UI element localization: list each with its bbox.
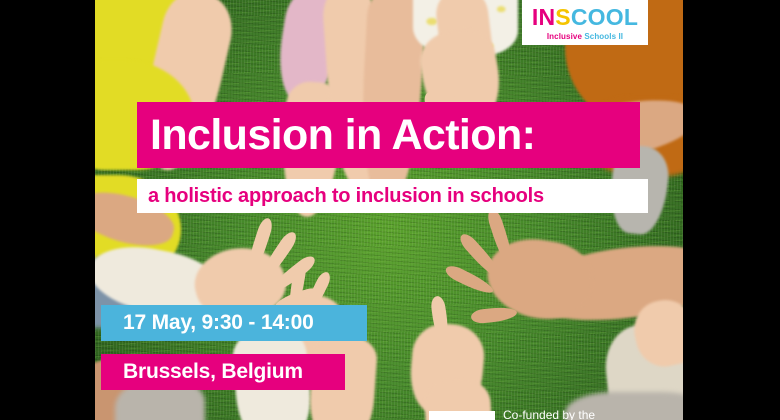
event-location: Brussels, Belgium — [123, 360, 303, 384]
logo-text-s: S — [555, 4, 571, 30]
event-date: 17 May, 9:30 - 14:00 — [123, 311, 314, 335]
event-location-banner: Brussels, Belgium — [101, 354, 345, 390]
logo-text-cool: COOL — [571, 4, 638, 30]
event-subtitle-banner: a holistic approach to inclusion in scho… — [137, 179, 648, 213]
logo-wordmark: INSCOOL — [532, 6, 638, 29]
logo-tagline-schools: Schools II — [584, 32, 623, 41]
eu-flag-icon — [429, 411, 495, 420]
inscool-logo: INSCOOL Inclusive Schools II — [522, 0, 648, 45]
event-poster: INSCOOL Inclusive Schools II Inclusion i… — [0, 0, 780, 420]
eu-funding-text: Co-funded by the — [503, 408, 673, 420]
event-title-banner: Inclusion in Action: — [137, 102, 640, 168]
logo-text-in: IN — [532, 4, 555, 30]
logo-tagline: Inclusive Schools II — [547, 33, 623, 41]
event-title: Inclusion in Action: — [150, 114, 535, 157]
logo-tagline-inclusive: Inclusive — [547, 32, 582, 41]
event-subtitle: a holistic approach to inclusion in scho… — [148, 185, 544, 208]
event-date-banner: 17 May, 9:30 - 14:00 — [101, 305, 367, 341]
